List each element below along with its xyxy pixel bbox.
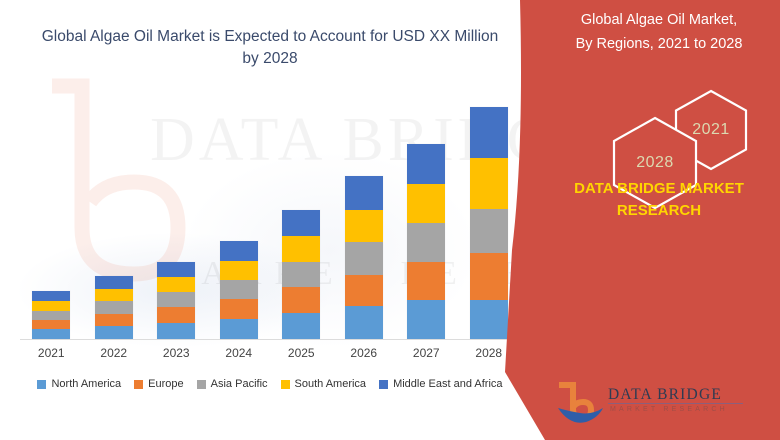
bar-segment-2023-middle-east-and-africa bbox=[157, 262, 195, 277]
bar-segment-2028-north-america bbox=[470, 300, 508, 339]
bar-segment-2022-europe bbox=[95, 314, 133, 326]
bar-segment-2024-south-america bbox=[220, 261, 258, 280]
bar-segment-2026-middle-east-and-africa bbox=[345, 176, 383, 210]
bar-segment-2023-asia-pacific bbox=[157, 292, 195, 307]
bar-segment-2027-asia-pacific bbox=[407, 223, 445, 262]
bar-2027 bbox=[407, 144, 445, 339]
infographic-canvas: DATA BRIDGE MARKET RESEARCH Global Algae… bbox=[0, 0, 780, 440]
legend-swatch-icon bbox=[281, 380, 290, 389]
panel-title-line1: Global Algae Oil Market, bbox=[545, 8, 773, 32]
legend-swatch-icon bbox=[134, 380, 143, 389]
legend-swatch-icon bbox=[37, 380, 46, 389]
x-axis-label-2028: 2028 bbox=[459, 346, 519, 360]
bar-2025 bbox=[282, 210, 320, 339]
x-axis-label-2021: 2021 bbox=[21, 346, 81, 360]
bar-segment-2025-middle-east-and-africa bbox=[282, 210, 320, 236]
chart-pane: DATA BRIDGE MARKET RESEARCH Global Algae… bbox=[0, 0, 540, 440]
bar-segment-2028-europe bbox=[470, 253, 508, 301]
bar-segment-2023-south-america bbox=[157, 277, 195, 292]
legend-swatch-icon bbox=[379, 380, 388, 389]
bar-segment-2028-asia-pacific bbox=[470, 209, 508, 253]
brand-line1: DATA BRIDGE MARKET bbox=[545, 178, 773, 200]
brand-wordmark: DATA BRIDGE MARKET RESEARCH bbox=[545, 178, 773, 222]
bar-segment-2027-north-america bbox=[407, 300, 445, 339]
bar-segment-2021-north-america bbox=[32, 329, 70, 339]
bar-segment-2025-south-america bbox=[282, 236, 320, 261]
bar-2023 bbox=[157, 262, 195, 339]
bar-segment-2023-europe bbox=[157, 307, 195, 322]
bar-segment-2025-asia-pacific bbox=[282, 262, 320, 287]
chart-title: Global Algae Oil Market is Expected to A… bbox=[40, 26, 500, 70]
chart-legend: North AmericaEuropeAsia PacificSouth Ame… bbox=[20, 375, 520, 393]
legend-swatch-icon bbox=[197, 380, 206, 389]
bar-segment-2027-south-america bbox=[407, 184, 445, 223]
bar-segment-2021-middle-east-and-africa bbox=[32, 291, 70, 301]
bar-segment-2021-asia-pacific bbox=[32, 311, 70, 320]
legend-item-europe[interactable]: Europe bbox=[134, 378, 183, 390]
x-axis-label-2027: 2027 bbox=[396, 346, 456, 360]
bar-segment-2022-asia-pacific bbox=[95, 301, 133, 313]
x-axis-label-2026: 2026 bbox=[334, 346, 394, 360]
legend-item-north-america[interactable]: North America bbox=[37, 378, 121, 390]
footer-logo-subtitle: MARKET RESEARCH bbox=[610, 406, 728, 413]
bar-segment-2028-south-america bbox=[470, 158, 508, 209]
bar-segment-2024-middle-east-and-africa bbox=[220, 241, 258, 260]
panel-title: Global Algae Oil Market, By Regions, 202… bbox=[545, 8, 773, 56]
bar-2026 bbox=[345, 176, 383, 339]
legend-item-middle-east-and-africa[interactable]: Middle East and Africa bbox=[379, 378, 502, 390]
bar-segment-2026-north-america bbox=[345, 306, 383, 339]
bar-segment-2021-south-america bbox=[32, 301, 70, 310]
bar-segment-2024-asia-pacific bbox=[220, 280, 258, 299]
footer-logo-icon bbox=[556, 382, 606, 426]
legend-label: Asia Pacific bbox=[211, 378, 268, 390]
bar-segment-2021-europe bbox=[32, 320, 70, 329]
bar-segment-2025-north-america bbox=[282, 313, 320, 339]
legend-item-south-america[interactable]: South America bbox=[281, 378, 367, 390]
x-axis-line bbox=[20, 339, 520, 340]
bar-2028 bbox=[470, 107, 508, 339]
bar-segment-2027-europe bbox=[407, 262, 445, 301]
bar-2024 bbox=[220, 241, 258, 339]
panel-title-line2: By Regions, 2021 to 2028 bbox=[545, 32, 773, 56]
bar-segment-2022-north-america bbox=[95, 326, 133, 339]
footer-logo-name: DATA BRIDGE bbox=[608, 386, 722, 404]
x-axis-label-2023: 2023 bbox=[146, 346, 206, 360]
legend-label: Middle East and Africa bbox=[393, 378, 502, 390]
brand-line2: RESEARCH bbox=[545, 200, 773, 222]
x-axis-labels: 20212022202320242025202620272028 bbox=[20, 346, 520, 366]
stacked-bars-group bbox=[20, 95, 520, 339]
legend-label: North America bbox=[51, 378, 121, 390]
bar-2021 bbox=[32, 291, 70, 339]
x-axis-label-2024: 2024 bbox=[209, 346, 269, 360]
x-axis-label-2025: 2025 bbox=[271, 346, 331, 360]
x-axis-label-2022: 2022 bbox=[84, 346, 144, 360]
legend-label: Europe bbox=[148, 378, 183, 390]
bar-segment-2022-south-america bbox=[95, 289, 133, 301]
bar-segment-2027-middle-east-and-africa bbox=[407, 144, 445, 185]
legend-item-asia-pacific[interactable]: Asia Pacific bbox=[197, 378, 268, 390]
bar-segment-2026-south-america bbox=[345, 210, 383, 243]
bar-segment-2024-north-america bbox=[220, 319, 258, 339]
bar-2022 bbox=[95, 276, 133, 339]
footer-logo: DATA BRIDGE MARKET RESEARCH bbox=[556, 382, 756, 426]
bar-segment-2024-europe bbox=[220, 299, 258, 318]
bar-segment-2026-europe bbox=[345, 275, 383, 307]
bar-segment-2025-europe bbox=[282, 287, 320, 312]
bar-segment-2022-middle-east-and-africa bbox=[95, 276, 133, 289]
hexagon-2028-label: 2028 bbox=[636, 154, 674, 172]
bar-segment-2023-north-america bbox=[157, 323, 195, 339]
bar-segment-2026-asia-pacific bbox=[345, 242, 383, 275]
bar-segment-2028-middle-east-and-africa bbox=[470, 107, 508, 158]
legend-label: South America bbox=[295, 378, 367, 390]
